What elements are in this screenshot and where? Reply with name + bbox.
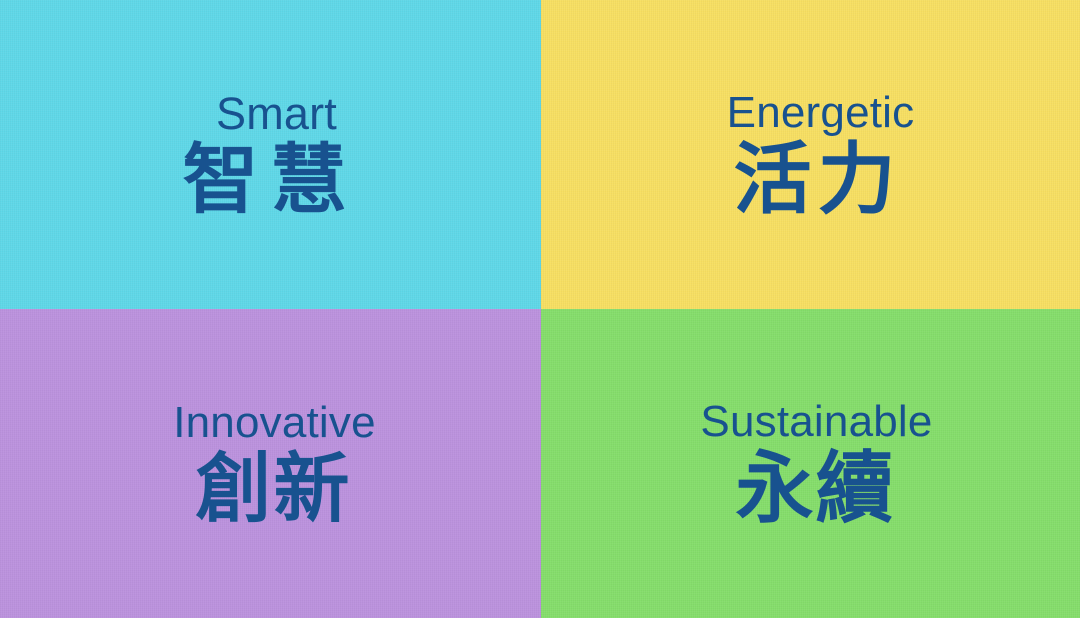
quadrant-sustainable: Sustainable 永續 — [541, 309, 1080, 618]
quadrant-energetic-text-block: Energetic 活力 — [727, 91, 915, 219]
brand-values-canvas: Smart 智慧 Energetic 活力 Innovative 創新 Sust… — [0, 0, 1080, 618]
quadrant-smart: Smart 智慧 — [0, 0, 541, 309]
quadrant-smart-label-zh: 智慧 — [183, 142, 371, 218]
quadrant-innovative-label-zh: 創新 — [195, 451, 353, 527]
quadrant-energetic-label-zh: 活力 — [733, 141, 907, 219]
quadrant-sustainable-label-zh: 永續 — [735, 450, 897, 528]
quadrant-smart-text-block: Smart 智慧 — [183, 91, 371, 218]
quadrant-sustainable-label-en: Sustainable — [700, 400, 932, 444]
quadrant-energetic: Energetic 活力 — [541, 0, 1080, 309]
quadrant-smart-label-en: Smart — [216, 91, 337, 136]
quadrant-innovative-label-en: Innovative — [173, 401, 376, 445]
quadrant-energetic-label-en: Energetic — [727, 91, 915, 135]
quadrant-innovative-text-block: Innovative 創新 — [173, 401, 376, 527]
quadrant-sustainable-text-block: Sustainable 永續 — [700, 400, 932, 528]
quadrant-innovative: Innovative 創新 — [0, 309, 541, 618]
